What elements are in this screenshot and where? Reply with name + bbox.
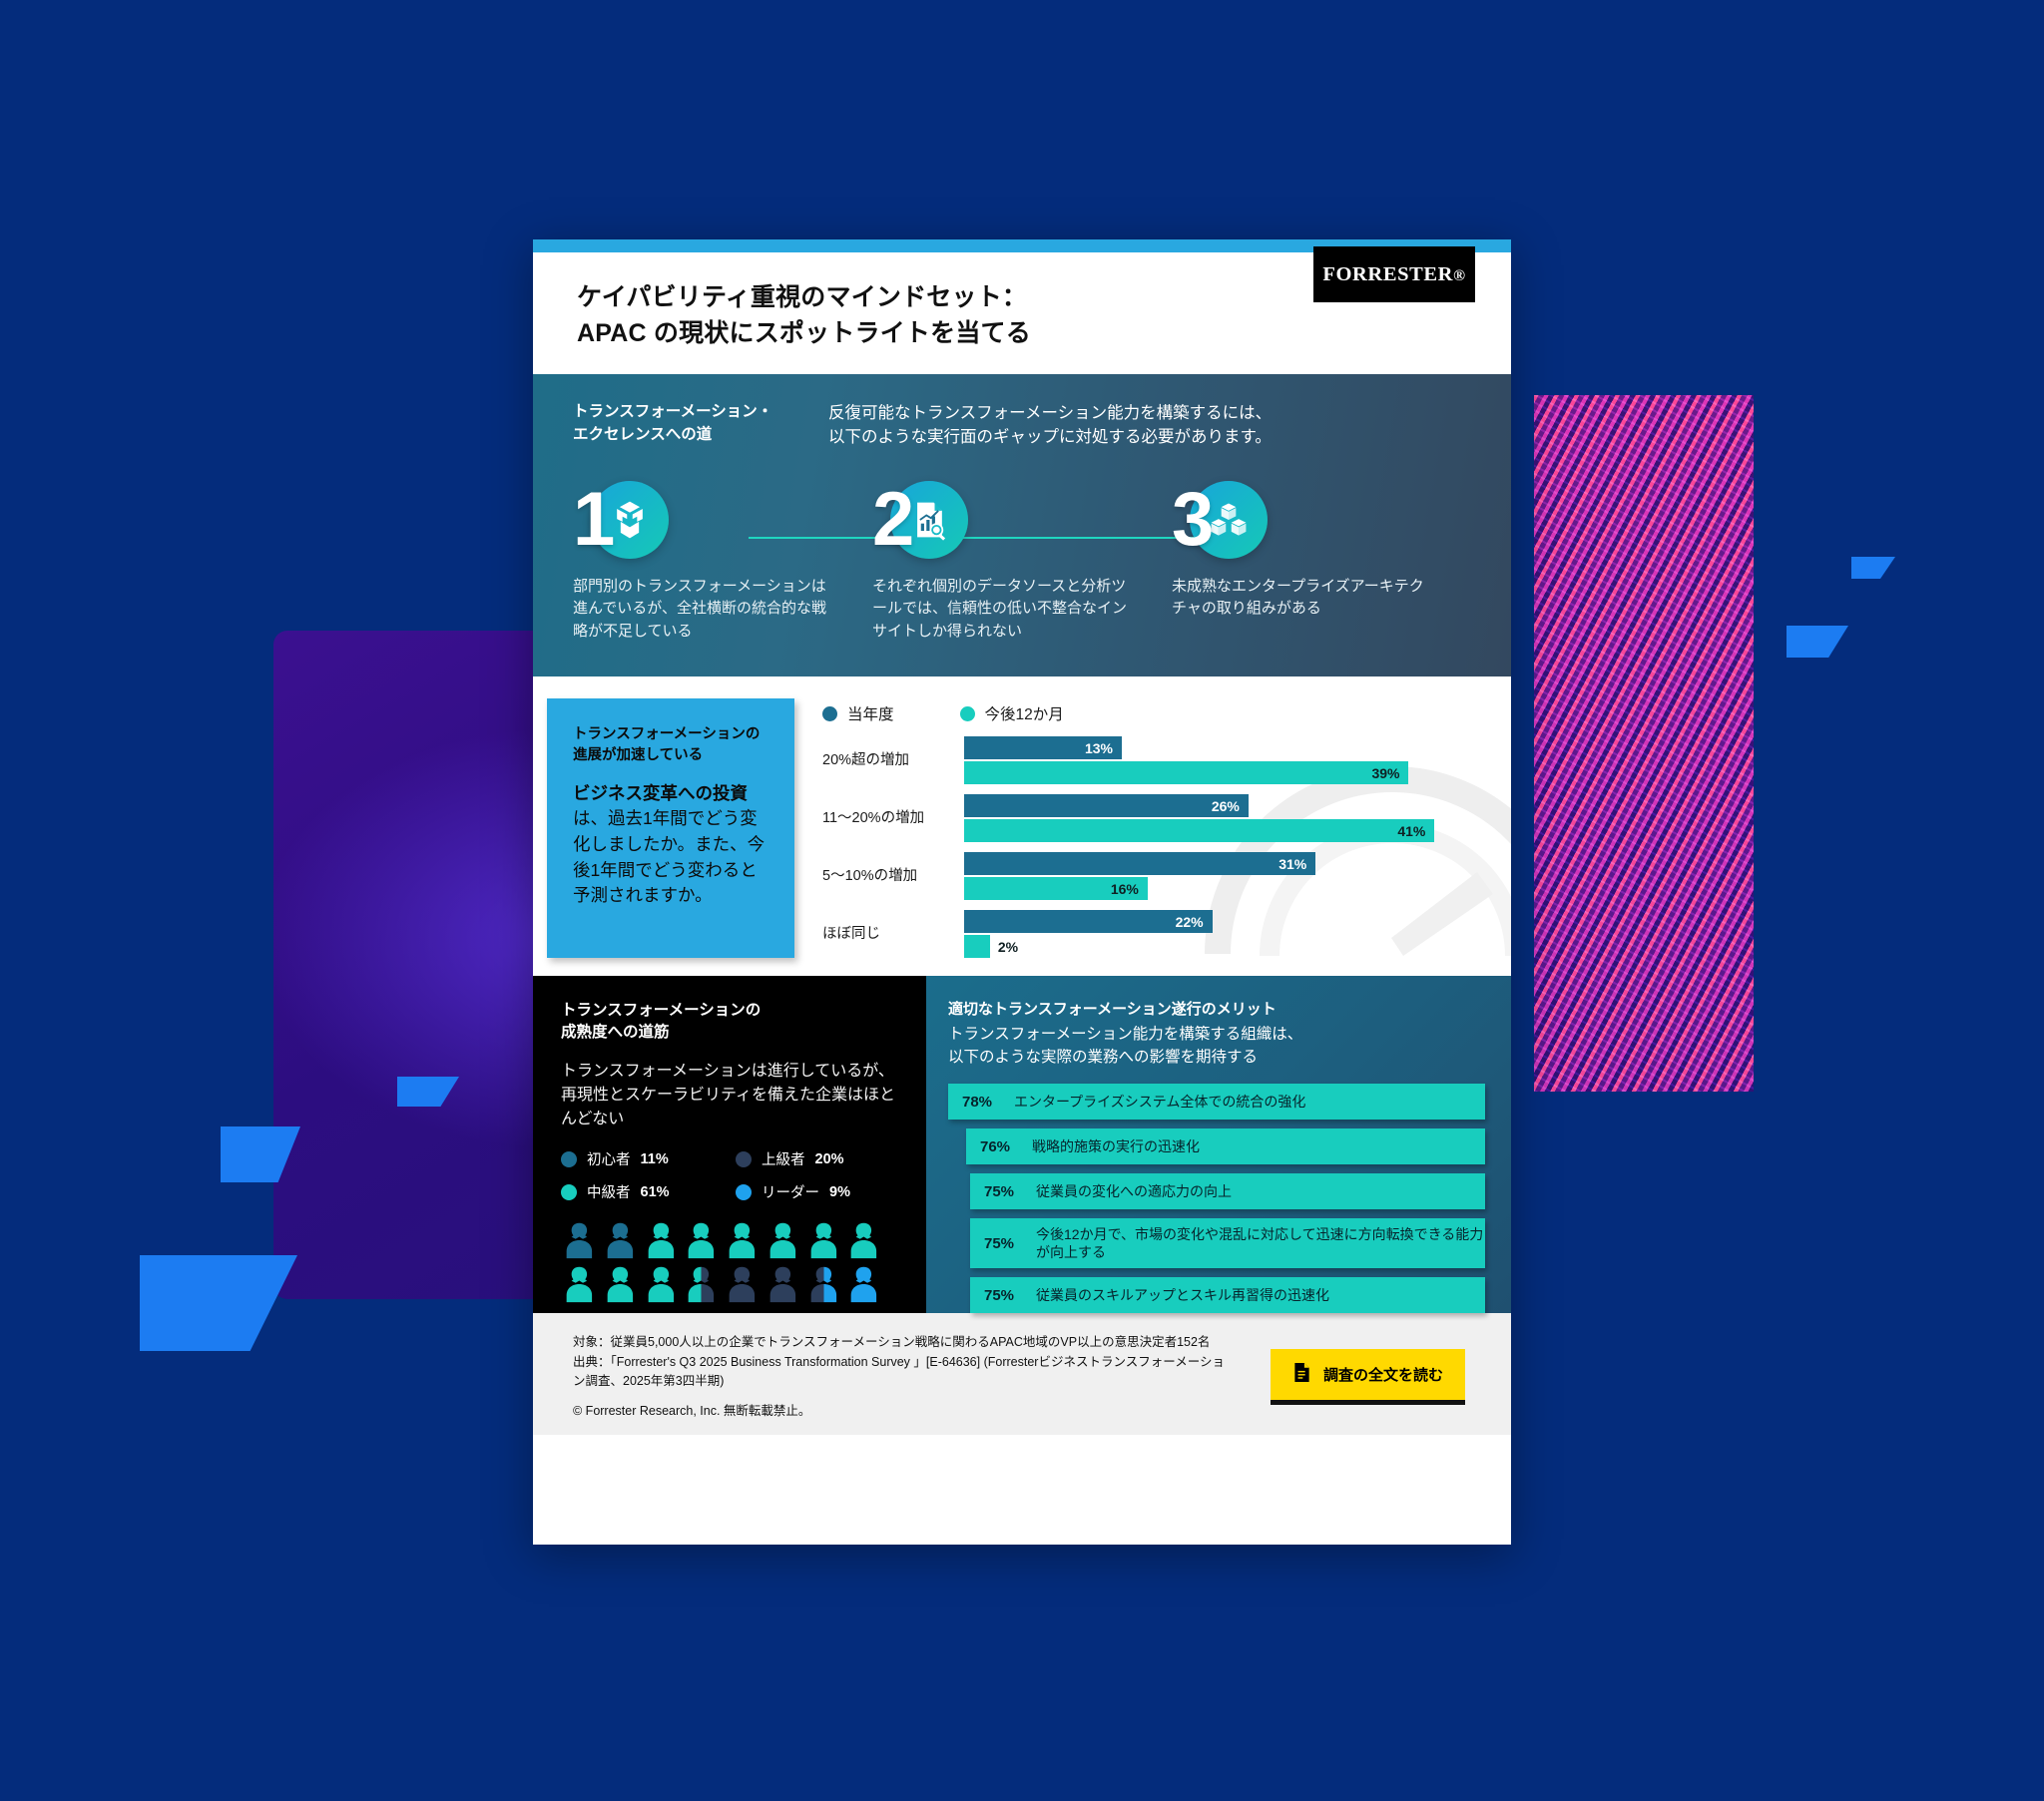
- chart-group-1: 11〜20%の増加 26% 41%: [822, 794, 1481, 842]
- maturity-dot-advanced: [736, 1151, 752, 1167]
- person-icon: [643, 1220, 680, 1260]
- maturity-level-advanced: 上級者 20%: [736, 1148, 900, 1169]
- chart-bar-current-0: 13%: [964, 736, 1481, 759]
- person-icon: [602, 1264, 639, 1304]
- step-number-2: 2: [872, 486, 912, 554]
- benefit-percent: 78%: [962, 1094, 1014, 1111]
- maturity-body: トランスフォーメーションは進行しているが、再現性とスケーラビリティを備えた企業は…: [561, 1060, 900, 1130]
- benefit-item: 75% 従業員の変化への適応力の向上: [970, 1173, 1485, 1209]
- benefits-subtitle-line-2: 以下のような実際の業務への影響を期待する: [948, 1047, 1485, 1069]
- step-item-2: 2: [872, 476, 1172, 644]
- chart-category-0: 20%超の増加: [822, 751, 964, 769]
- person-icon: [683, 1220, 720, 1260]
- benefit-percent: 75%: [984, 1183, 1036, 1200]
- person-icon: [765, 1220, 801, 1260]
- chart-question-box: トランスフォーメーションの進展が加速している ビジネス変革への投資は、過去1年間…: [547, 698, 794, 958]
- maturity-title-line-2: 成熟度への道筋: [561, 1022, 900, 1044]
- person-icon: [765, 1264, 801, 1304]
- benefit-label: 従業員の変化への適応力の向上: [1036, 1182, 1232, 1200]
- benefit-label: 今後12か月で、市場の変化や混乱に対応して迅速に方向転換できる能力が向上する: [1036, 1225, 1485, 1261]
- maturity-level-beginner: 初心者 11%: [561, 1148, 726, 1169]
- read-full-survey-label: 調査の全文を読む: [1323, 1364, 1443, 1385]
- infographic-header: ケイパビリティ重視のマインドセット： APAC の現状にスポットライトを当てる …: [533, 252, 1511, 374]
- chart-value-next-1: 41%: [1397, 823, 1434, 839]
- benefit-item: 76% 戦略的施策の実行の迅速化: [966, 1128, 1485, 1164]
- benefit-percent: 75%: [984, 1287, 1036, 1304]
- chart-bar-next-2: 16%: [964, 877, 1481, 900]
- person-icon: [845, 1264, 882, 1304]
- benefits-title: 適切なトランスフォーメーション遂行のメリット: [948, 998, 1485, 1019]
- maturity-legend: 初心者 11% 上級者 20% 中級者 61% リーダー 9%: [561, 1148, 900, 1202]
- steps-intro-line-2: 以下のような実行面のギャップに対処する必要があります。: [828, 425, 1471, 449]
- chart-bar-next-1: 41%: [964, 819, 1481, 842]
- question-kicker: トランスフォーメーションの進展が加速している: [573, 724, 772, 765]
- forrester-logo-text: FORRESTER®: [1322, 263, 1465, 286]
- maturity-level-leader: リーダー 9%: [736, 1181, 900, 1202]
- chart-bar-current-2: 31%: [964, 852, 1481, 875]
- chart-rows: 20%超の増加 13% 39%: [822, 736, 1481, 958]
- legend-label-next-12-months: 今後12か月: [985, 702, 1064, 724]
- chart-bar-current-3: 22%: [964, 910, 1481, 933]
- maturity-label-beginner: 初心者: [587, 1148, 631, 1169]
- legend-dot-next-12-months: [960, 706, 975, 721]
- chevron-shape: [1787, 626, 1848, 658]
- maturity-label-leader: リーダー: [762, 1181, 819, 1202]
- benefit-item: 78% エンタープライズシステム全体での統合の強化: [948, 1084, 1485, 1120]
- chart-category-2: 5〜10%の増加: [822, 867, 964, 885]
- benefit-label: 従業員のスキルアップとスキル再習得の迅速化: [1036, 1286, 1329, 1304]
- step-item-3: 3: [1172, 476, 1471, 644]
- benefit-percent: 76%: [980, 1138, 1032, 1155]
- maturity-panel: トランスフォーメーションの 成熟度への道筋 トランスフォーメーションは進行してい…: [533, 976, 926, 1313]
- maturity-value-beginner: 11%: [641, 1151, 669, 1167]
- chart-value-current-0: 13%: [1085, 740, 1122, 756]
- chart-value-next-2: 16%: [1111, 881, 1148, 897]
- page-title-line-2: APAC の現状にスポットライトを当てる: [577, 316, 1266, 352]
- person-icon: [805, 1264, 842, 1304]
- question-text: ビジネス変革への投資は、過去1年間でどう変化しましたか。また、今後1年間でどう変…: [573, 781, 772, 909]
- person-icon: [683, 1264, 720, 1304]
- transformation-excellence-section: トランスフォーメーション・エクセレンスへの道 反復可能なトランスフォーメーション…: [533, 374, 1511, 676]
- person-icon: [643, 1264, 680, 1304]
- chart-value-next-3: 2%: [990, 939, 1018, 955]
- maturity-title: トランスフォーメーションの 成熟度への道筋: [561, 1000, 900, 1044]
- benefit-label: 戦略的施策の実行の迅速化: [1032, 1137, 1200, 1155]
- benefit-item: 75% 従業員のスキルアップとスキル再習得の迅速化: [970, 1277, 1485, 1313]
- pink-abstract-panel: [1534, 395, 1754, 1092]
- chart-group-0: 20%超の増加 13% 39%: [822, 736, 1481, 784]
- maturity-title-line-1: トランスフォーメーションの: [561, 1000, 900, 1022]
- step-description-2: それぞれ個別のデータソースと分析ツールでは、信頼性の低い不整合なインサイトしか得…: [872, 576, 1130, 644]
- chart-value-current-2: 31%: [1278, 856, 1315, 872]
- chevron-shape: [1851, 557, 1895, 579]
- benefit-percent: 75%: [984, 1235, 1036, 1252]
- person-icon: [805, 1220, 842, 1260]
- chart-group-2: 5〜10%の増加 31% 16%: [822, 852, 1481, 900]
- step-number-1: 1: [573, 486, 613, 554]
- page-title: ケイパビリティ重視のマインドセット： APAC の現状にスポットライトを当てる: [577, 280, 1266, 351]
- forrester-logo: FORRESTER®: [1313, 246, 1475, 302]
- benefits-subtitle: トランスフォーメーション能力を構築する組織は、 以下のような実際の業務への影響を…: [948, 1024, 1485, 1069]
- legend-dot-current-year: [822, 706, 837, 721]
- footnote-source: 出典：「Forrester's Q3 2025 Business Transfo…: [573, 1353, 1232, 1392]
- step-description-1: 部門別のトランスフォーメーションは進んでいるが、全社横断の統合的な戦略が不足して…: [573, 576, 830, 644]
- legend-item-next-12-months: 今後12か月: [960, 702, 1064, 724]
- maturity-label-advanced: 上級者: [762, 1148, 805, 1169]
- page-title-line-1: ケイパビリティ重視のマインドセット：: [577, 280, 1266, 316]
- maturity-dot-leader: [736, 1184, 752, 1200]
- chart-bar-next-3: 2%: [964, 935, 1481, 958]
- chart-bar-next-0: 39%: [964, 761, 1481, 784]
- steps-intro-line-1: 反復可能なトランスフォーメーション能力を構築するには、: [828, 401, 1471, 425]
- maturity-dot-beginner: [561, 1151, 577, 1167]
- chart-legend: 当年度 今後12か月: [822, 702, 1481, 724]
- legend-label-current-year: 当年度: [847, 702, 894, 724]
- step-number-3: 3: [1172, 486, 1212, 554]
- document-icon: [1292, 1362, 1311, 1387]
- chart-category-1: 11〜20%の増加: [822, 809, 964, 827]
- person-icon: [561, 1264, 598, 1304]
- maturity-people-pictogram: [561, 1220, 882, 1304]
- chart-value-next-0: 39%: [1371, 765, 1408, 781]
- step-item-1: 1 部門別のトランスフォーメーションは進んでいるが、全社横断の統合的な戦略が不足…: [573, 476, 872, 644]
- maturity-label-intermediate: 中級者: [587, 1181, 631, 1202]
- steps-intro: 反復可能なトランスフォーメーション能力を構築するには、 以下のような実行面のギャ…: [828, 400, 1471, 450]
- maturity-value-leader: 9%: [829, 1184, 850, 1200]
- person-icon: [845, 1220, 882, 1260]
- step-description-3: 未成熟なエンタープライズアーキテクチャの取り組みがある: [1172, 576, 1429, 621]
- chart-value-current-3: 22%: [1176, 914, 1213, 930]
- bar-chart: 当年度 今後12か月 20%超の増加 13%: [794, 698, 1511, 958]
- question-rest-part: は、過去1年間でどう変化しましたか。また、今後1年間でどう変わると予測されますか…: [573, 808, 765, 905]
- chart-bar-current-1: 26%: [964, 794, 1481, 817]
- maturity-level-intermediate: 中級者 61%: [561, 1181, 726, 1202]
- chart-value-current-1: 26%: [1212, 798, 1249, 814]
- read-full-survey-button[interactable]: 調査の全文を読む: [1271, 1349, 1465, 1400]
- footnote-base: 対象：従業員5,000人以上の企業でトランスフォーメーション戦略に関わるAPAC…: [573, 1333, 1232, 1352]
- benefits-panel: 適切なトランスフォーメーション遂行のメリット トランスフォーメーション能力を構築…: [926, 976, 1511, 1313]
- maturity-dot-intermediate: [561, 1184, 577, 1200]
- person-icon: [724, 1264, 761, 1304]
- footnotes: 対象：従業員5,000人以上の企業でトランスフォーメーション戦略に関わるAPAC…: [573, 1333, 1232, 1422]
- person-icon: [602, 1220, 639, 1260]
- bottom-panels: トランスフォーメーションの 成熟度への道筋 トランスフォーメーションは進行してい…: [533, 976, 1511, 1313]
- benefit-item: 75% 今後12か月で、市場の変化や混乱に対応して迅速に方向転換できる能力が向上…: [970, 1218, 1485, 1268]
- steps-lead-label: トランスフォーメーション・エクセレンスへの道: [573, 400, 784, 450]
- chart-category-3: ほぼ同じ: [822, 925, 964, 943]
- infographic-footer: 対象：従業員5,000人以上の企業でトランスフォーメーション戦略に関わるAPAC…: [533, 1313, 1511, 1435]
- infographic-card: ケイパビリティ重視のマインドセット： APAC の現状にスポットライトを当てる …: [533, 239, 1511, 1545]
- maturity-value-advanced: 20%: [815, 1151, 844, 1167]
- benefit-label: エンタープライズシステム全体での統合の強化: [1014, 1093, 1305, 1111]
- benefits-subtitle-line-1: トランスフォーメーション能力を構築する組織は、: [948, 1024, 1485, 1046]
- investment-change-chart-section: トランスフォーメーションの進展が加速している ビジネス変革への投資は、過去1年間…: [533, 676, 1511, 976]
- person-icon: [724, 1220, 761, 1260]
- steps-row: 1 部門別のトランスフォーメーションは進んでいるが、全社横断の統合的な戦略が不足…: [573, 476, 1471, 644]
- maturity-value-intermediate: 61%: [641, 1184, 670, 1200]
- chart-group-3: ほぼ同じ 22% 2%: [822, 910, 1481, 958]
- question-bold-part: ビジネス変革への投資: [573, 783, 748, 803]
- chevron-shape: [140, 1255, 297, 1351]
- benefits-list: 78% エンタープライズシステム全体での統合の強化 76% 戦略的施策の実行の迅…: [948, 1084, 1485, 1313]
- legend-item-current-year: 当年度: [822, 702, 894, 724]
- footnote-copyright: © Forrester Research, Inc. 無断転載禁止。: [573, 1402, 1232, 1421]
- person-icon: [561, 1220, 598, 1260]
